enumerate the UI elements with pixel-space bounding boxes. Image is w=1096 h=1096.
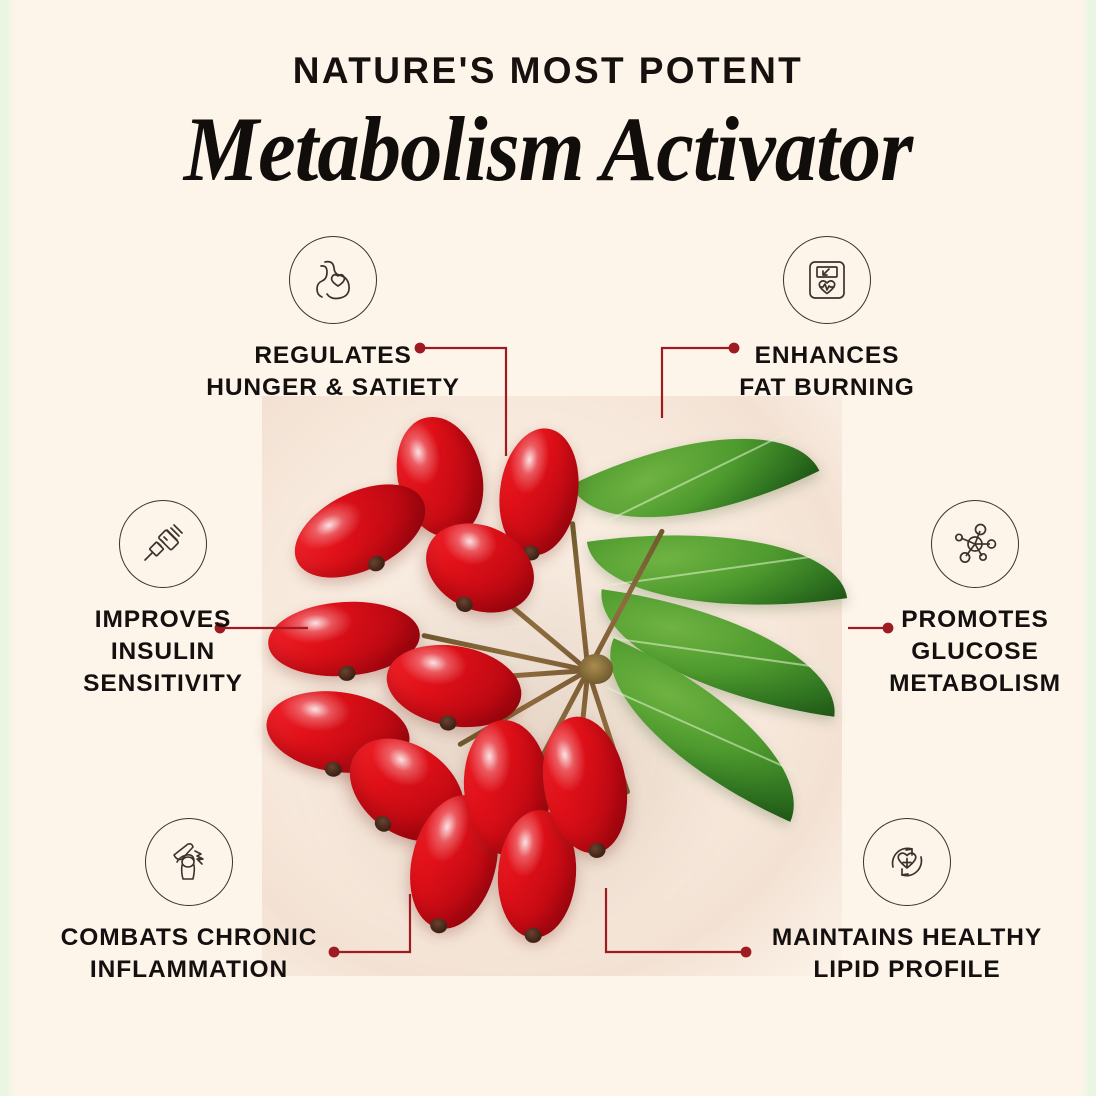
- feature-promotes-glucose-metabolism[interactable]: PROMOTES GLUCOSE METABOLISM: [850, 500, 1096, 700]
- feature-label: IMPROVES INSULIN SENSITIVITY: [38, 604, 288, 700]
- infographic-canvas: NATURE'S MOST POTENT Metabolism Activato…: [0, 0, 1096, 1096]
- berry-cluster-core: [579, 654, 613, 684]
- molecule-network-icon: [931, 500, 1019, 588]
- stomach-heart-icon: [289, 236, 377, 324]
- syringe-icon: [119, 500, 207, 588]
- feature-enhances-fat-burning[interactable]: ENHANCES FAT BURNING: [672, 236, 982, 404]
- feature-regulates-hunger-satiety[interactable]: REGULATES HUNGER & SATIETY: [178, 236, 488, 404]
- feature-label: PROMOTES GLUCOSE METABOLISM: [850, 604, 1096, 700]
- feature-improves-insulin-sensitivity[interactable]: IMPROVES INSULIN SENSITIVITY: [38, 500, 288, 700]
- header: NATURE'S MOST POTENT Metabolism Activato…: [0, 0, 1096, 197]
- feature-label: COMBATS CHRONIC INFLAMMATION: [24, 922, 354, 986]
- feature-label: MAINTAINS HEALTHY LIPID PROFILE: [742, 922, 1072, 986]
- feature-label: REGULATES HUNGER & SATIETY: [178, 340, 488, 404]
- eyebrow-text: NATURE'S MOST POTENT: [0, 52, 1096, 89]
- knee-joint-inflammation-icon: [145, 818, 233, 906]
- feature-label: ENHANCES FAT BURNING: [672, 340, 982, 404]
- heart-plus-cycle-icon: [863, 818, 951, 906]
- weight-scale-heart-icon: [783, 236, 871, 324]
- page-title: Metabolism Activator: [44, 103, 1052, 197]
- feature-maintains-healthy-lipid-profile[interactable]: MAINTAINS HEALTHY LIPID PROFILE: [742, 818, 1072, 986]
- feature-combats-chronic-inflammation[interactable]: COMBATS CHRONIC INFLAMMATION: [24, 818, 354, 986]
